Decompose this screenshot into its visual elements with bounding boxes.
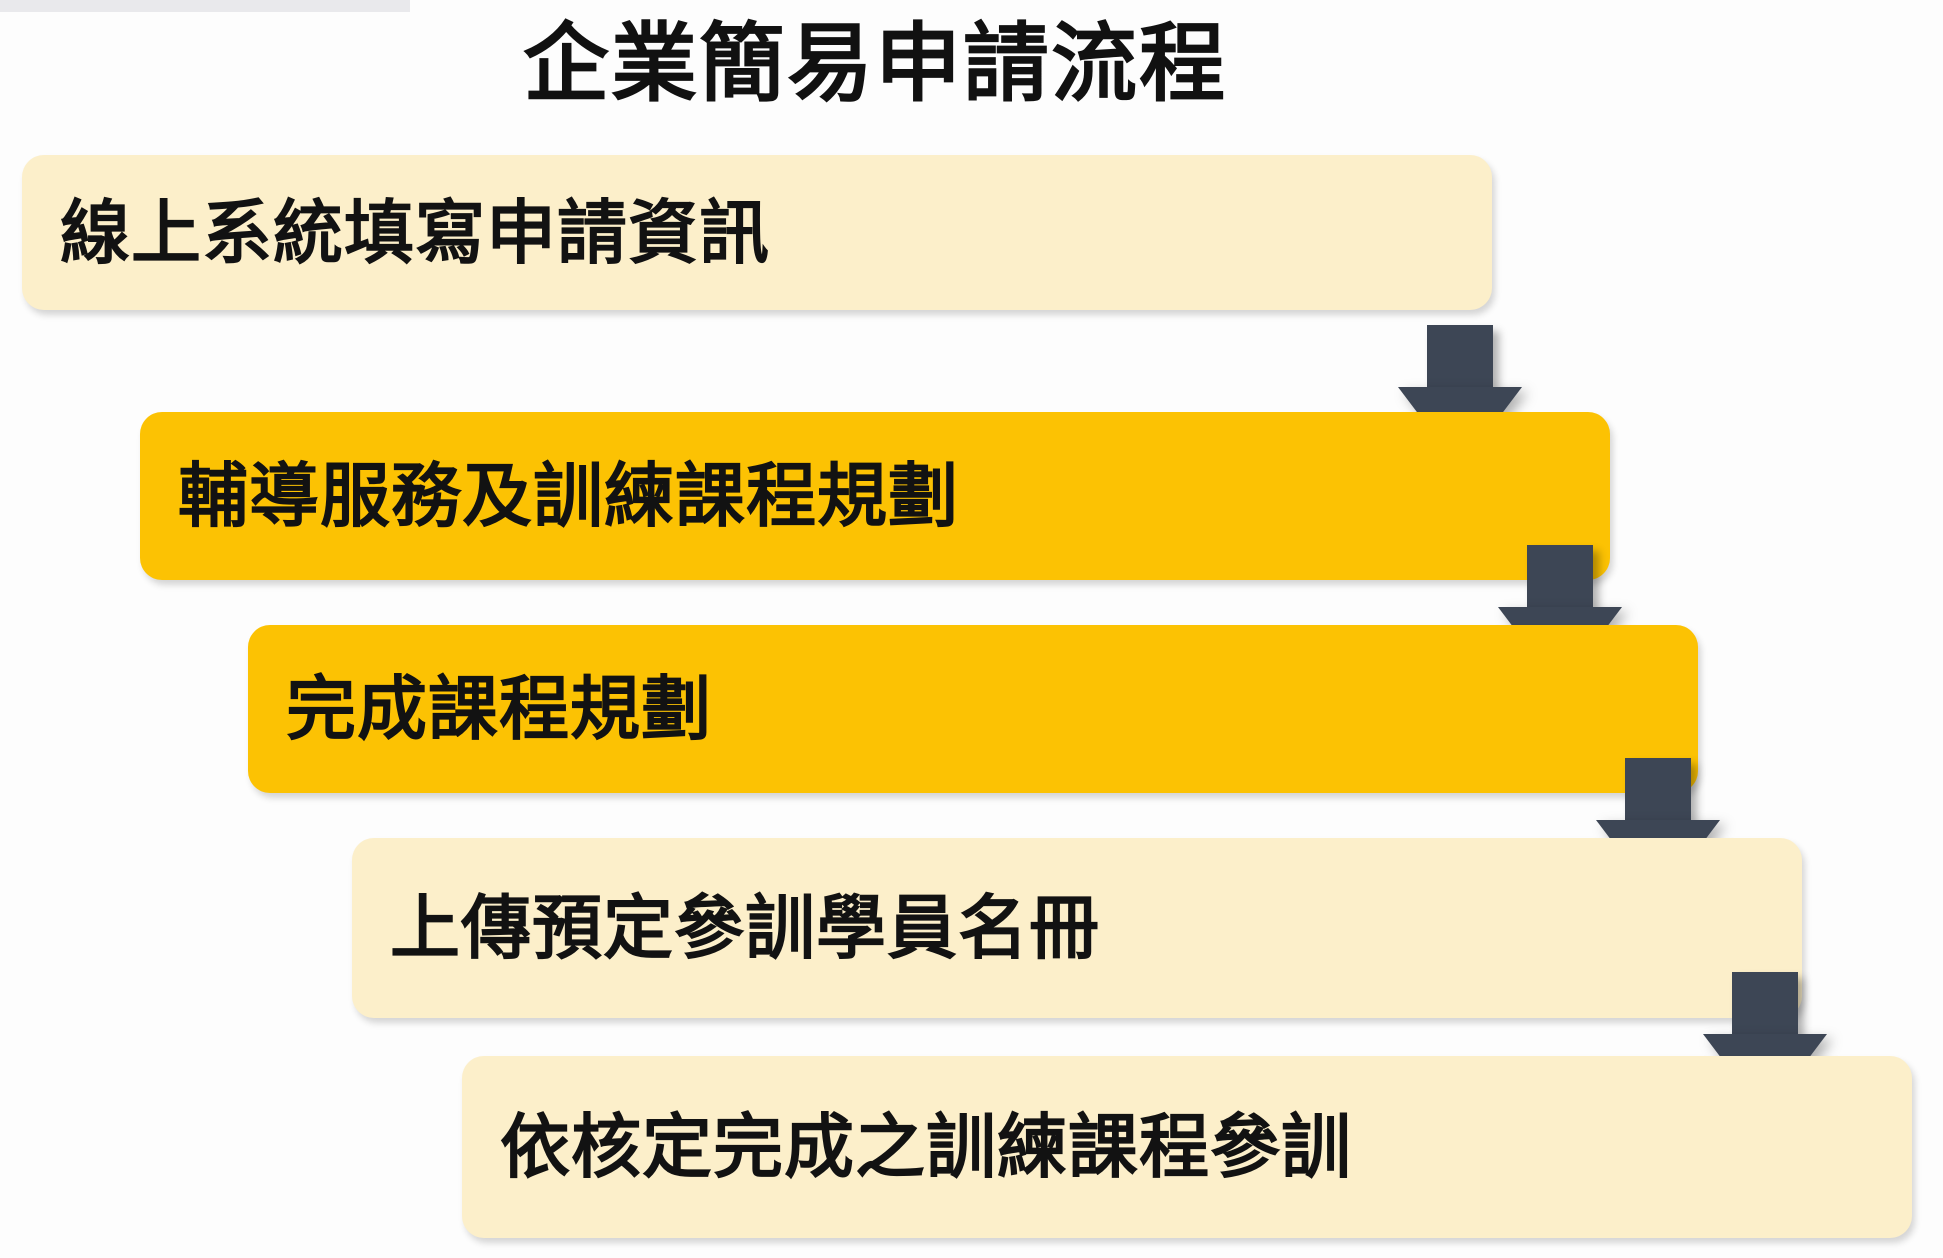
flow-step-3[interactable]: 完成課程規劃	[248, 625, 1698, 793]
flow-step-4-label: 上傳預定參訓學員名冊	[390, 893, 1100, 963]
flow-step-5[interactable]: 依核定完成之訓練課程參訓	[462, 1056, 1912, 1238]
arrow-shaft	[1427, 325, 1493, 387]
process-flow-diagram: 線上系統填寫申請資訊 輔導服務及訓練課程規劃 完成課程規劃 上傳預定參訓學員名冊	[0, 0, 1943, 1258]
flow-step-1-label: 線上系統填寫申請資訊	[60, 198, 770, 268]
flow-step-5-label: 依核定完成之訓練課程參訓	[500, 1112, 1352, 1182]
flow-step-2-label: 輔導服務及訓練課程規劃	[178, 461, 959, 531]
arrow-shaft	[1732, 972, 1798, 1034]
flow-step-2[interactable]: 輔導服務及訓練課程規劃	[140, 412, 1610, 580]
slide-canvas: 企業簡易申請流程 線上系統填寫申請資訊 輔導服務及訓練課程規劃 完成課程規劃 上…	[0, 0, 1943, 1258]
arrow-shaft	[1527, 545, 1593, 607]
flow-step-4[interactable]: 上傳預定參訓學員名冊	[352, 838, 1802, 1018]
flow-step-3-label: 完成課程規劃	[286, 674, 712, 744]
arrow-shaft	[1625, 758, 1691, 820]
flow-step-1[interactable]: 線上系統填寫申請資訊	[22, 155, 1492, 310]
